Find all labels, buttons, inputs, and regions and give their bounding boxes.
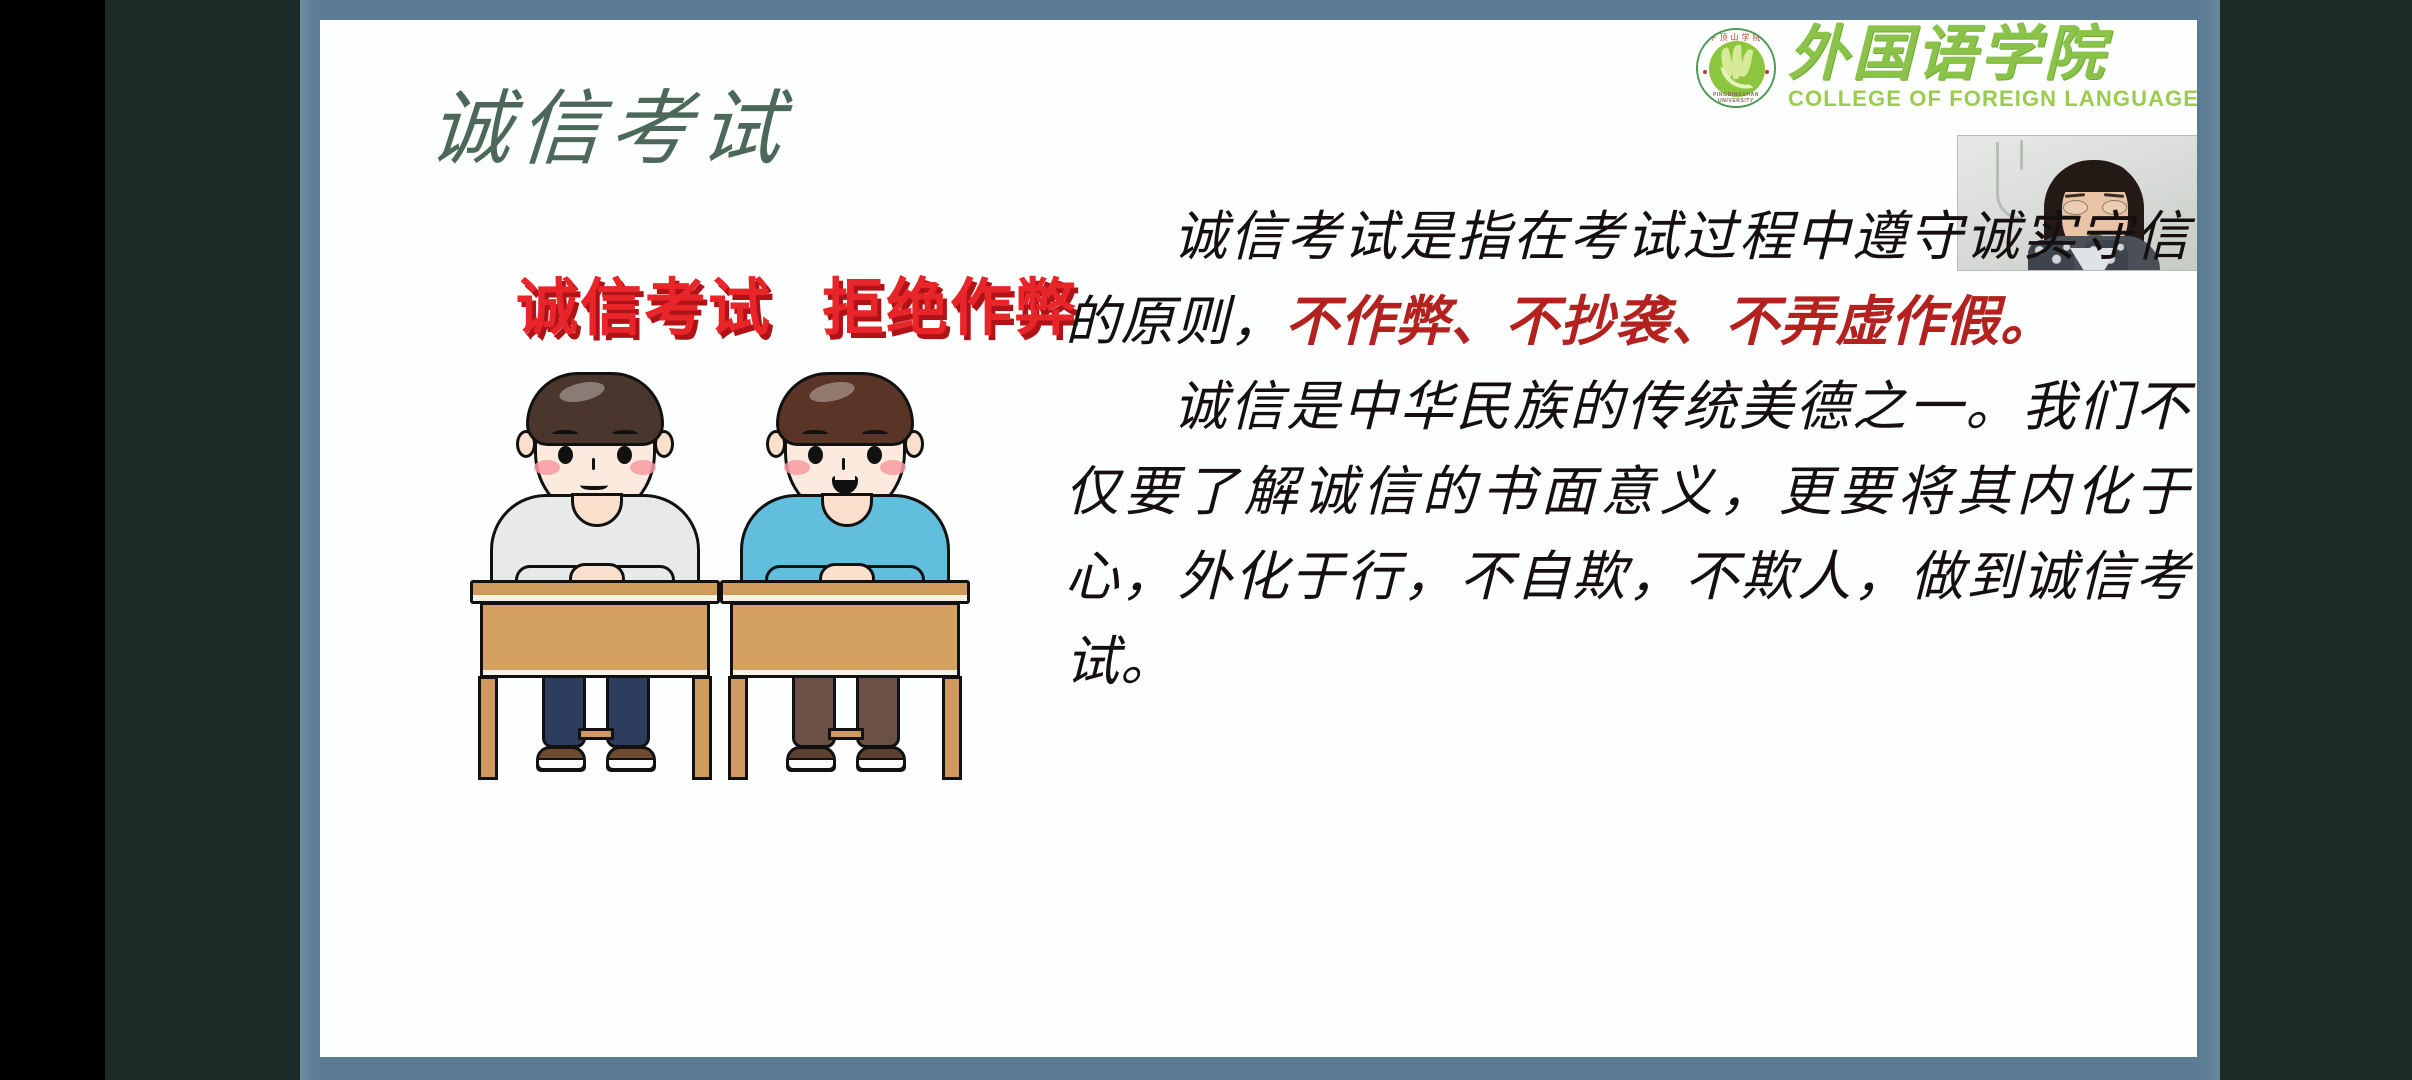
eye-left — [808, 446, 823, 464]
desk-foot-rail — [578, 728, 614, 740]
desk-leg-right — [692, 676, 712, 780]
slide-body-text: 诚信考试是指在考试过程中遵守诚实守信的原则，不作弊、不抄袭、不弄虚作假。 诚信是… — [1065, 195, 2190, 705]
desk-leg-left — [478, 676, 498, 780]
eyebrow-left — [552, 430, 578, 438]
desk-front-panel — [730, 602, 960, 678]
cheek-blush-right — [630, 460, 656, 475]
eyebrow-right — [862, 430, 888, 438]
college-logo: 平顶山学院 PINGDINGSHAN UNIVERSITY 外国语学院 COLL… — [1696, 22, 2197, 114]
desk-top — [470, 580, 720, 604]
university-seal-icon: 平顶山学院 PINGDINGSHAN UNIVERSITY — [1696, 28, 1776, 108]
video-player-canvas: 诚信考试 平顶山学院 PINGDINGSHAN UNIVERSITY 外国语学院… — [0, 0, 2412, 1080]
eyebrow-left — [802, 430, 828, 438]
desk-leg-right — [942, 676, 962, 780]
shirt-neckline — [821, 493, 873, 527]
eyebrow-right — [612, 430, 638, 438]
college-name-english: COLLEGE OF FOREIGN LANGUAGE — [1788, 86, 2197, 112]
student-desk-left — [470, 580, 720, 780]
presenter-fringe — [2058, 164, 2132, 192]
cheek-blush-right — [880, 460, 906, 475]
seal-dot-icon — [1765, 70, 1769, 74]
student-right-hair — [776, 372, 914, 446]
page-title: 诚信考试 — [426, 62, 794, 181]
student-figure-right — [720, 350, 980, 780]
nose-icon — [592, 458, 595, 470]
eye-right — [617, 446, 632, 464]
student-figure-left — [470, 350, 730, 780]
mouth-closed-smile — [580, 478, 608, 490]
college-logo-text: 外国语学院 COLLEGE OF FOREIGN LANGUAGE — [1788, 24, 2197, 112]
seal-dot-icon — [1703, 70, 1707, 74]
eye-left — [558, 446, 573, 464]
slogan-text-right: 拒绝作弊 — [822, 257, 1078, 347]
slogan-text-left: 诚信考试 — [516, 257, 772, 347]
seal-rim-chinese: 平顶山学院 — [1698, 32, 1774, 43]
student-left-hair — [526, 372, 664, 446]
webcam-wall-pipe-secondary — [2020, 140, 2029, 170]
paragraph-1-highlight: 不作弊、不抄袭、不弄虚作假。 — [1285, 292, 2055, 352]
cheek-blush-left — [534, 460, 560, 475]
nose-icon — [842, 458, 845, 470]
desk-top — [720, 580, 970, 604]
seal-rim-english: PINGDINGSHAN UNIVERSITY — [1698, 92, 1774, 104]
desk-leg-left — [728, 676, 748, 780]
desk-front-panel — [480, 602, 710, 678]
eye-right — [867, 446, 882, 464]
college-name-chinese: 外国语学院 — [1788, 24, 2197, 84]
slogan-banner: 诚信考试 拒绝作弊 — [516, 257, 1078, 347]
students-illustration — [470, 350, 1010, 780]
cheek-blush-left — [784, 460, 810, 475]
body-paragraph-1: 诚信考试是指在考试过程中遵守诚实守信的原则，不作弊、不抄袭、不弄虚作假。 — [1065, 195, 2190, 365]
shirt-collar — [571, 493, 623, 527]
body-paragraph-2: 诚信是中华民族的传统美德之一。我们不仅要了解诚信的书面意义，更要将其内化于心，外… — [1065, 365, 2190, 705]
student-desk-right — [720, 580, 970, 780]
presentation-slide: 诚信考试 平顶山学院 PINGDINGSHAN UNIVERSITY 外国语学院… — [320, 20, 2197, 1057]
desk-foot-rail — [828, 728, 864, 740]
